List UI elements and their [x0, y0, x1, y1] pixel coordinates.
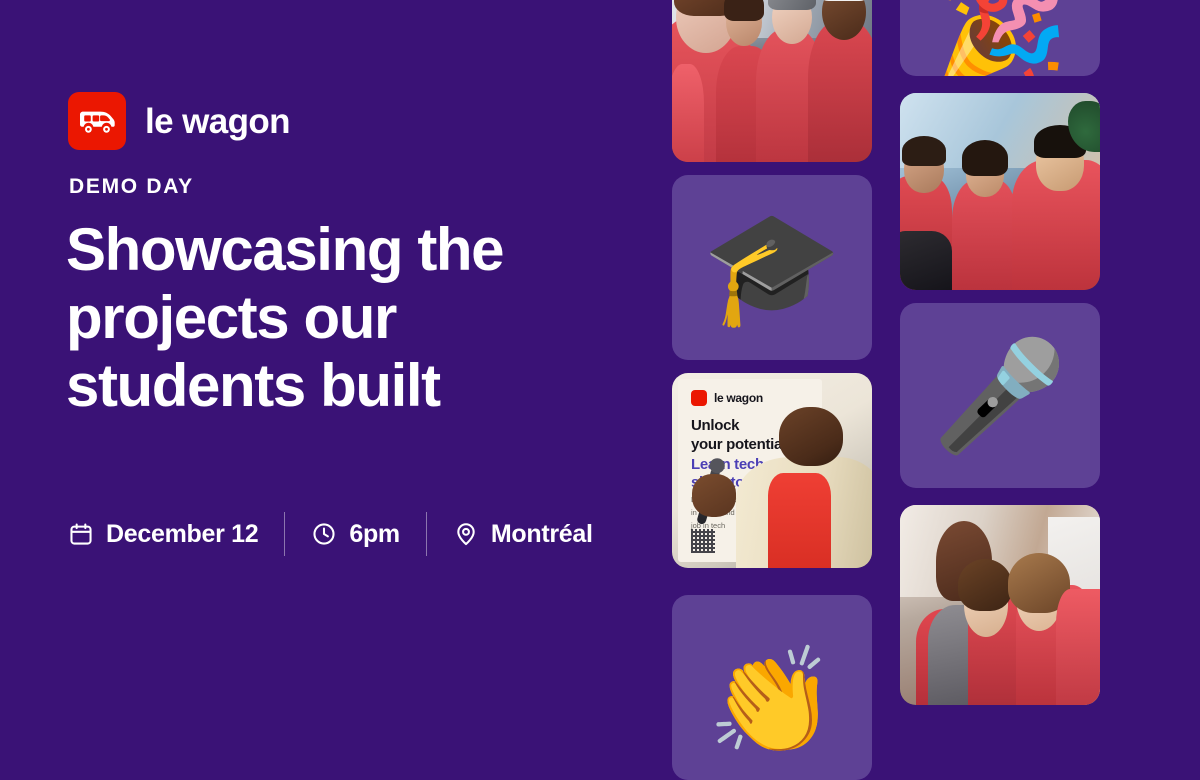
poster-brand-name: le wagon [714, 391, 763, 405]
wagon-van-icon [68, 92, 126, 150]
microphone-card: 🎤 [900, 303, 1100, 488]
students-smiling-photo [900, 505, 1100, 705]
event-location: Montréal [453, 521, 593, 547]
photo-scene [900, 505, 1100, 705]
page-title: Showcasing the projects our students bui… [66, 216, 646, 419]
event-date-label: December 12 [106, 522, 258, 547]
speaker-poster-photo: le wagon Unlockyour potential Learn tech… [672, 373, 872, 568]
le-wagon-logo: le wagon [68, 92, 290, 150]
headline-line-2: projects our [66, 284, 646, 352]
map-pin-icon [453, 521, 479, 547]
graduation-cap-card: 🎓 [672, 175, 872, 360]
headline-line-1: Showcasing the [66, 216, 646, 284]
clapping-hands-icon: 👏 [707, 650, 837, 754]
event-time-label: 6pm [349, 522, 400, 547]
photo-collage: 🎓 le wagon Unlockyour potential Learn te… [660, 0, 1200, 674]
meta-divider [284, 512, 285, 556]
calendar-icon [68, 521, 94, 547]
meta-divider [426, 512, 427, 556]
wagon-van-icon [691, 390, 707, 406]
party-popper-icon: 🎉 [930, 0, 1069, 76]
qr-code-icon [691, 529, 715, 553]
graduation-cap-icon: 🎓 [702, 212, 841, 324]
speaker-figure [736, 404, 872, 568]
clapping-hands-card: 👏 [672, 595, 872, 780]
demo-day-poster: le wagon DEMO DAY Showcasing the project… [0, 0, 1200, 674]
audience-seated-photo [900, 93, 1100, 290]
clock-icon [311, 521, 337, 547]
event-location-label: Montréal [491, 522, 593, 547]
event-meta-bar: December 12 6pm Montréal [68, 512, 593, 556]
party-popper-card: 🎉 [900, 0, 1100, 76]
audience-laughing-photo [672, 0, 872, 162]
photo-scene: le wagon Unlockyour potential Learn tech… [672, 373, 872, 568]
hero-content: le wagon DEMO DAY Showcasing the project… [0, 0, 660, 674]
eyebrow-label: DEMO DAY [69, 176, 194, 197]
headline-line-3: students built [66, 352, 646, 420]
photo-scene [672, 0, 872, 162]
brand-name: le wagon [145, 104, 290, 139]
event-date: December 12 [68, 521, 258, 547]
photo-scene [900, 93, 1100, 290]
event-time: 6pm [311, 521, 400, 547]
microphone-icon: 🎤 [933, 342, 1067, 450]
